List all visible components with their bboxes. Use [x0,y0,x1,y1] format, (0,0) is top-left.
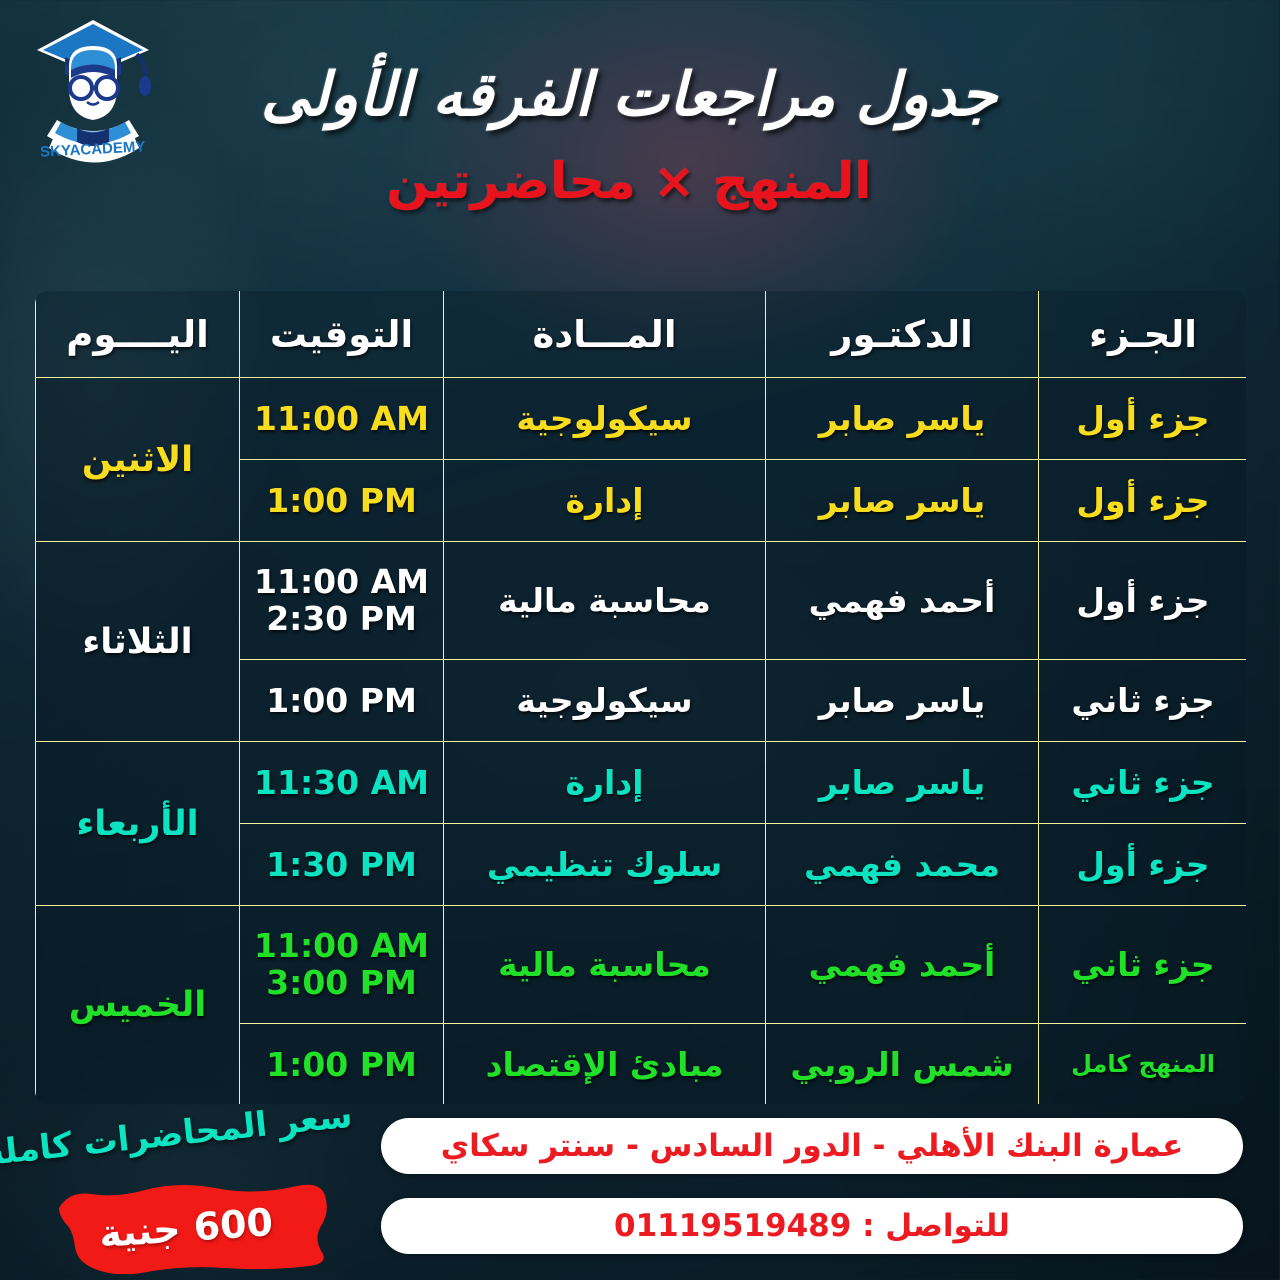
cell-subject: سيكولوجية [445,378,767,460]
cell-doctor: شمس الروبي [767,1024,1040,1106]
cell-doctor: ياسر صابر [767,660,1040,742]
contact-pill[interactable]: للتواصل : 01119519489 [382,1198,1244,1254]
cell-day: الثلاثاء [36,542,241,742]
table-row: جزء ثانيياسر صابرإدارة11:30 AMالأربعاء [36,742,1250,824]
cell-time: 1:00 PM [241,1024,445,1106]
cell-day: الاثنين [36,378,241,542]
cell-doctor: أحمد فهمي [767,542,1040,660]
cell-part: جزء أول [1040,542,1250,660]
cell-subject: إدارة [445,742,767,824]
time-secondary: 2:30 PM [247,601,438,638]
address-text: عمارة البنك الأهلي - الدور السادس - سنتر… [442,1128,1185,1164]
cell-subject: سلوك تنظيمي [445,824,767,906]
column-header-day: اليــــوم [36,290,241,378]
cell-doctor: أحمد فهمي [767,906,1040,1024]
table-row: جزء ثانيأحمد فهميمحاسبة مالية11:00 AM3:0… [36,906,1250,1024]
cell-part: جزء أول [1040,378,1250,460]
cell-subject: سيكولوجية [445,660,767,742]
cell-subject: مبادئ الإقتصاد [445,1024,767,1106]
table-row: جزء أولأحمد فهميمحاسبة مالية11:00 AM2:30… [36,542,1250,660]
cell-doctor: ياسر صابر [767,742,1040,824]
sky-academy-logo: SKYACADEMY [26,8,162,168]
cell-subject: محاسبة مالية [445,906,767,1024]
address-pill: عمارة البنك الأهلي - الدور السادس - سنتر… [382,1118,1244,1174]
cell-time: 11:30 AM [241,742,445,824]
cell-time: 11:00 AM [241,378,445,460]
page-subtitle: المنهج × محاضرتين [180,152,1080,210]
column-header-time: التوقيت [241,290,445,378]
page-title: جدول مراجعات الفرقه الأولى [180,60,1080,130]
cell-time: 1:30 PM [241,824,445,906]
cell-day: الأربعاء [36,742,241,906]
column-header-subject: المـــادة [445,290,767,378]
cell-part: المنهج كامل [1040,1024,1250,1106]
table-row: جزء أولياسر صابرسيكولوجية11:00 AMالاثنين [36,378,1250,460]
cell-subject: محاسبة مالية [445,542,767,660]
time-secondary: 3:00 PM [247,965,438,1002]
cell-time: 1:00 PM [241,660,445,742]
price-badge: 600 جنية [46,1182,328,1274]
column-header-part: الجـزء [1040,290,1250,378]
header-row: الجـزء الدكتـور المـــادة التوقيت اليـــ… [36,290,1250,378]
cell-part: جزء ثاني [1040,660,1250,742]
cell-time: 11:00 AM2:30 PM [241,542,445,660]
price-value: 600 جنية [43,1172,331,1280]
cell-time: 11:00 AM3:00 PM [241,906,445,1024]
cell-doctor: ياسر صابر [767,460,1040,542]
cell-day: الخميس [36,906,241,1106]
contact-text: للتواصل : 01119519489 [615,1208,1011,1244]
cell-subject: إدارة [445,460,767,542]
time-primary: 11:00 AM [247,928,438,965]
cell-part: جزء ثاني [1040,742,1250,824]
table-header: الجـزء الدكتـور المـــادة التوقيت اليـــ… [36,290,1250,378]
table-body: جزء أولياسر صابرسيكولوجية11:00 AMالاثنين… [36,378,1250,1106]
time-primary: 11:00 AM [247,564,438,601]
schedule-table: الجـزء الدكتـور المـــادة التوقيت اليـــ… [33,288,1250,1107]
cell-time: 1:00 PM [241,460,445,542]
cell-part: جزء أول [1040,824,1250,906]
cell-doctor: ياسر صابر [767,378,1040,460]
cell-part: جزء ثاني [1040,906,1250,1024]
cell-doctor: محمد فهمي [767,824,1040,906]
cell-part: جزء أول [1040,460,1250,542]
column-header-doctor: الدكتـور [767,290,1040,378]
